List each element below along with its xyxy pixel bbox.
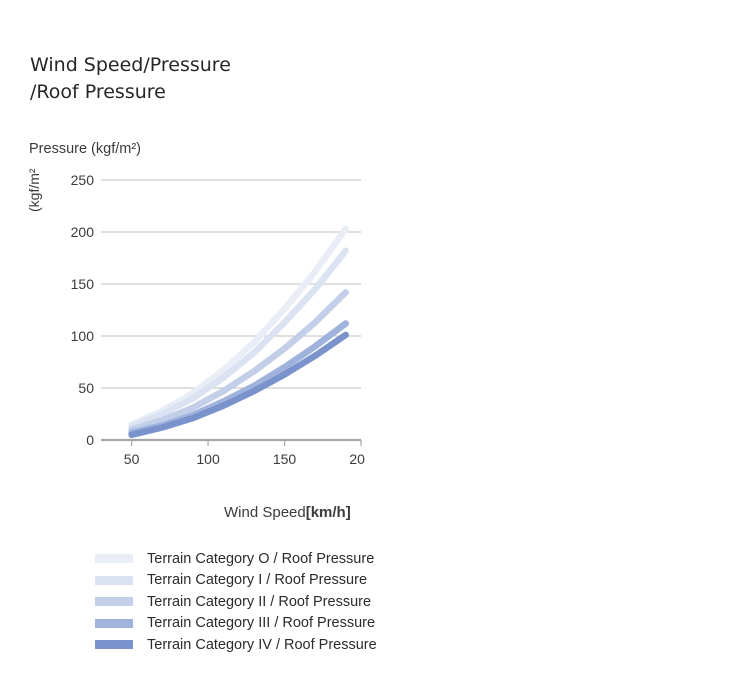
left-legend-label: Terrain Category O / Roof Pressure: [147, 551, 374, 567]
left-plot-svg: 05010015020025050100150200: [55, 170, 365, 480]
y-tick-label: 50: [78, 380, 94, 396]
left-legend-item[interactable]: Terrain Category II / Roof Pressure: [95, 591, 377, 613]
left-legend-swatch-icon: [95, 554, 133, 563]
x-tick-label: 200: [349, 451, 365, 467]
left-legend-label: Terrain Category I / Roof Pressure: [147, 572, 367, 588]
left-legend-label: Terrain Category IV / Roof Pressure: [147, 637, 377, 653]
left-legend-item[interactable]: Terrain Category IV / Roof Pressure: [95, 634, 377, 656]
left-yaxis-rotated-caption: (kgf/m²): [26, 168, 44, 212]
x-tick-label: 150: [273, 451, 297, 467]
y-tick-label: 250: [71, 172, 95, 188]
left-legend-swatch-icon: [95, 619, 133, 628]
left-xaxis-title-unit: [km/h]: [306, 504, 351, 521]
left-chart-title: Wind Speed/Pressure /Roof Pressure: [30, 52, 280, 106]
left-legend-swatch-icon: [95, 640, 133, 649]
left-legend-label: Terrain Category III / Roof Pressure: [147, 615, 375, 631]
left-legend-item[interactable]: Terrain Category III / Roof Pressure: [95, 613, 377, 635]
left-xaxis-title-main: Wind Speed: [224, 504, 306, 521]
left-chart-panel: Wind Speed/Pressure /Roof Pressure Press…: [0, 0, 372, 688]
right-chart-panel: Wind Speed/Wind Pressure/Basic Pressure,…: [372, 0, 745, 688]
left-legend-item[interactable]: Terrain Category O / Roof Pressure: [95, 548, 377, 570]
y-tick-label: 150: [71, 276, 95, 292]
chart-page: Wind Speed/Pressure /Roof Pressure Press…: [0, 0, 745, 688]
left-xaxis-title: Wind Speed[km/h]: [224, 504, 351, 521]
left-plot-area: 05010015020025050100150200: [55, 170, 365, 480]
left-legend: Terrain Category O / Roof PressureTerrai…: [95, 548, 377, 656]
left-legend-swatch-icon: [95, 576, 133, 585]
y-tick-label: 0: [86, 432, 94, 448]
left-legend-swatch-icon: [95, 597, 133, 606]
left-legend-label: Terrain Category II / Roof Pressure: [147, 594, 371, 610]
y-tick-label: 100: [71, 328, 95, 344]
left-yaxis-unit-label: Pressure (kgf/m²): [29, 141, 141, 157]
left-legend-item[interactable]: Terrain Category I / Roof Pressure: [95, 570, 377, 592]
y-tick-label: 200: [71, 224, 95, 240]
x-tick-label: 50: [124, 451, 140, 467]
x-tick-label: 100: [196, 451, 220, 467]
